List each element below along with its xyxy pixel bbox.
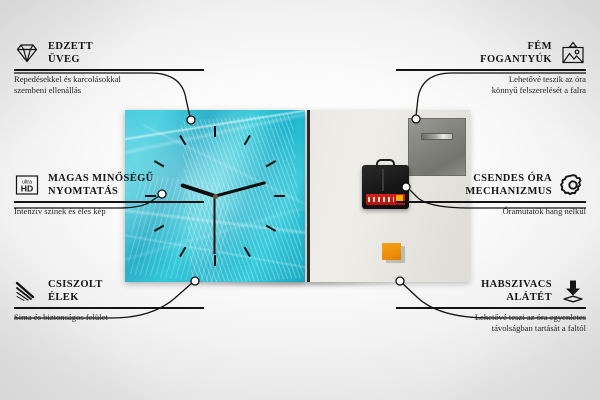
feature-hd-print[interactable]: ultra HD MAGAS MINŐSÉGŰ NYOMTATÁS Intenz…	[14, 172, 204, 217]
divider	[396, 307, 586, 308]
divider	[396, 69, 586, 70]
divider	[14, 69, 204, 70]
diamond-icon	[14, 40, 40, 66]
svg-text:HD: HD	[21, 184, 33, 194]
feature-title: CSISZOLT ÉLEK	[48, 278, 103, 304]
feature-description: Lehetővé teszi az óra egyenletes távolsá…	[396, 312, 586, 335]
feature-description: Intenzív színek és éles kép	[14, 206, 204, 217]
feature-header: ultra HD MAGAS MINŐSÉGŰ NYOMTATÁS	[14, 172, 204, 198]
feature-description: Lehetővé teszik az óra könnyű felszerelé…	[396, 74, 586, 97]
feature-description: Óramutatók hang nélkül	[396, 206, 586, 217]
divider	[14, 201, 204, 202]
feature-header: CSISZOLT ÉLEK	[14, 278, 204, 304]
diagonal-lines-icon	[14, 278, 40, 304]
feature-title: FÉM FOGANTYÚK	[480, 40, 552, 66]
feature-header: CSENDES ÓRA MECHANIZMUS	[396, 172, 586, 198]
feature-foam-pad[interactable]: HABSZIVACS ALÁTÉT Lehetővé teszi az óra …	[396, 278, 586, 334]
feature-description: Repedésekkel és karcolásokkal szembeni e…	[14, 74, 204, 97]
feature-title: EDZETT ÜVEG	[48, 40, 93, 66]
feature-title: HABSZIVACS ALÁTÉT	[481, 278, 552, 304]
orange-foam-pad	[382, 243, 401, 260]
arrow-down-pad-icon	[560, 278, 586, 304]
gear-icon	[560, 172, 586, 198]
feature-title: MAGAS MINŐSÉGŰ NYOMTATÁS	[48, 172, 154, 198]
ultra-hd-icon: ultra HD	[14, 172, 40, 198]
metal-hanger-plate	[408, 118, 466, 176]
clock-tick	[214, 126, 216, 196]
feature-header: FÉM FOGANTYÚK	[396, 40, 586, 66]
feature-title: CSENDES ÓRA MECHANIZMUS	[465, 172, 552, 198]
feature-header: HABSZIVACS ALÁTÉT	[396, 278, 586, 304]
feature-tempered-glass[interactable]: EDZETT ÜVEG Repedésekkel és karcolásokka…	[14, 40, 204, 96]
clock-tick	[215, 195, 285, 197]
divider	[14, 307, 204, 308]
hanger-keyhole-slot	[421, 133, 453, 140]
clock-center-cap	[213, 194, 218, 199]
feature-description: Sima és biztonságos felület	[14, 312, 204, 323]
feature-metal-handles[interactable]: FÉM FOGANTYÚK Lehetővé teszik az óra kön…	[396, 40, 586, 96]
feature-silent-mechanism[interactable]: CSENDES ÓRA MECHANIZMUS Óramutatók hang …	[396, 172, 586, 217]
mechanism-seam	[382, 169, 384, 191]
battery-label-bars	[368, 197, 394, 202]
feature-header: EDZETT ÜVEG	[14, 40, 204, 66]
feature-polished-edges[interactable]: CSISZOLT ÉLEK Sima és biztonságos felüle…	[14, 278, 204, 323]
mechanism-shaft	[376, 159, 395, 167]
divider	[396, 201, 586, 202]
picture-frame-icon	[560, 40, 586, 66]
